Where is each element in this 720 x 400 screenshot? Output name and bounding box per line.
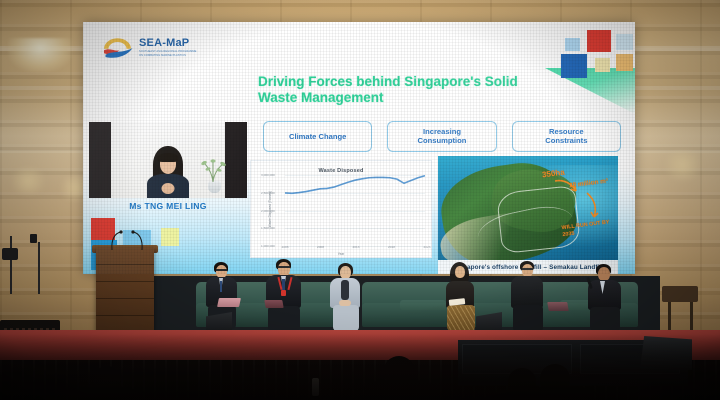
logo-title: SEA-MaP: [139, 38, 197, 49]
chart-y-tick-label: 3,000,000: [261, 173, 275, 177]
chart-x-tick-label: 2003: [282, 245, 289, 249]
chart-x-tick-label: 2023: [424, 245, 431, 249]
panelist-head: [455, 266, 465, 278]
panelist-legs: [268, 306, 300, 331]
panelist-torso: [511, 276, 543, 308]
moderator-legs: [590, 307, 620, 331]
chart-x-tick-label: 2018: [388, 245, 395, 249]
waste-disposed-chart: Waste Disposed Waste Disposed (Tonnes) Y…: [250, 160, 432, 258]
chart-x-tick-label: 2008: [317, 245, 324, 249]
chart-y-tick-label: 1,500,000: [261, 226, 275, 230]
laptop[interactable]: [547, 302, 569, 311]
podium: [96, 248, 154, 334]
video-pillarbox-left: [89, 122, 111, 198]
panelist-legs: [513, 305, 543, 332]
video-pillarbox-right: [225, 122, 247, 198]
seamap-logo-icon: [101, 36, 134, 60]
chart-y-tick-label: 1,000,000: [261, 244, 275, 248]
deco-square-yellow: [161, 228, 179, 246]
conference-scene: SEA-MaP SOUTHEAST ASIA REGIONAL PROGRAMM…: [0, 0, 720, 400]
chart-plot-area: [285, 175, 425, 244]
name-badge: [281, 290, 286, 296]
presentation-screen: SEA-MaP SOUTHEAST ASIA REGIONAL PROGRAMM…: [83, 22, 635, 274]
light-stand: [10, 236, 12, 294]
deco-square-orange: [616, 54, 633, 71]
plant-icon: [198, 154, 228, 184]
wall-light-glow: [660, 150, 706, 180]
light-stand: [38, 242, 40, 294]
slide-title: Driving Forces behind Singapore's Solid …: [258, 74, 558, 106]
chart-y-tick-label: 2,500,000: [261, 191, 275, 195]
deco-square-paleyellow: [595, 58, 610, 72]
deco-square-darkblue: [561, 54, 587, 78]
logo-subtitle-line2: ON COMBATING MARINE PLASTICS: [139, 55, 197, 58]
concept-box-climate-change[interactable]: Climate Change: [263, 121, 372, 152]
stage-light: [30, 234, 37, 243]
seamap-logo: SEA-MaP SOUTHEAST ASIA REGIONAL PROGRAMM…: [101, 36, 197, 60]
panelist-legs: [333, 305, 359, 331]
necktie: [220, 281, 222, 292]
moderator-head: [598, 267, 610, 281]
concept-box-row: Climate Change Increasing Consumption Re…: [263, 121, 621, 152]
speaker-video-feed: ·: [89, 122, 247, 198]
deco-square-lightblue: [565, 38, 580, 51]
speaker-hands: [162, 183, 175, 194]
device[interactable]: [264, 300, 283, 308]
glasses-icon: [216, 269, 227, 271]
deco-square-red: [587, 30, 611, 52]
foreground-shadow: [0, 334, 720, 400]
panelist-head: [278, 262, 290, 276]
speaker-name-label: Ms TNG MEI LING: [89, 198, 247, 214]
concept-box-resource-constraints[interactable]: Resource Constraints: [512, 121, 621, 152]
side-chair: [662, 286, 698, 302]
chart-x-tick-label: 2013: [353, 245, 360, 249]
glasses-icon: [522, 268, 533, 270]
wall-light-glow: [6, 168, 50, 194]
inner-top: [341, 280, 349, 300]
concept-box-increasing-consumption[interactable]: Increasing Consumption: [387, 121, 496, 152]
chart-title: Waste Disposed: [251, 168, 431, 174]
chart-x-axis-label: Year: [251, 252, 431, 256]
annotation-arrow-icon: [554, 178, 580, 196]
deco-square-paleblue: [616, 34, 633, 50]
panelist-hands: [339, 300, 351, 306]
chart-y-tick-label: 2,000,000: [261, 209, 275, 213]
laptop[interactable]: [217, 298, 241, 307]
speaker-fringe: [158, 153, 179, 162]
glasses-icon: [278, 266, 290, 268]
semakau-landfill-photo: 350ha 28 million m³ WILL RUN OUT BY 2035…: [438, 156, 618, 274]
chandelier: [8, 38, 72, 72]
annotation-arrow-icon: [584, 192, 602, 220]
video-feed-label: ·: [112, 194, 113, 197]
batik-pattern: [447, 306, 475, 332]
stage-light: [2, 248, 18, 260]
podium-microphones: [106, 229, 148, 251]
seat-cushion: [400, 300, 446, 310]
moderator-torso: [588, 280, 621, 310]
